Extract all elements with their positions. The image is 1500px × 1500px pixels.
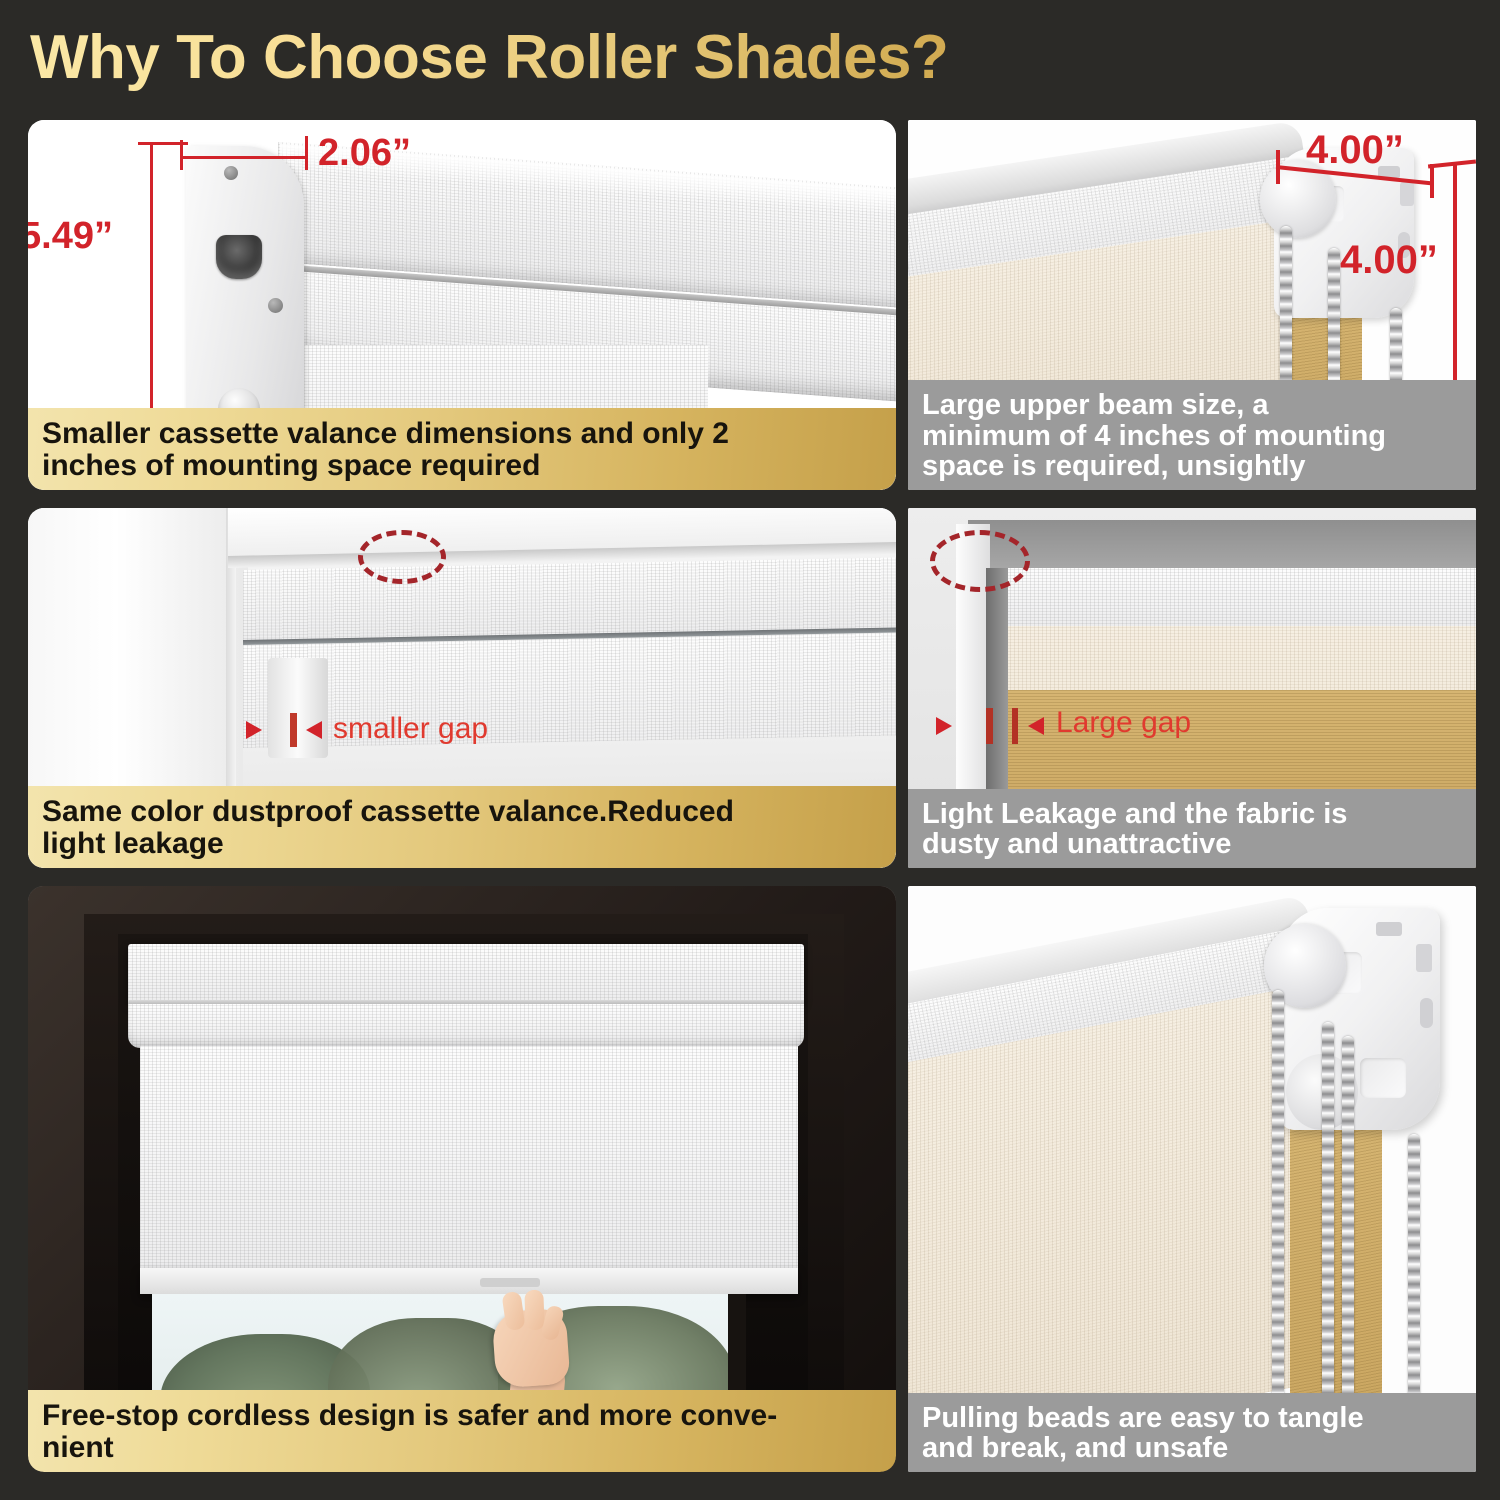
caption-line: Smaller cassette valance dimensions and … (42, 418, 882, 450)
shade-fabric (140, 1046, 798, 1278)
panel-caption: Free-stop cordless design is safer and m… (28, 1390, 896, 1472)
beam-height-tick-top (1428, 160, 1476, 169)
panel-cordless-window: Free-stop cordless design is safer and m… (28, 886, 896, 1472)
bottom-rail (268, 658, 328, 758)
valance-bullnose (128, 1004, 804, 1048)
panel-caption: Large upper beam size, a minimum of 4 in… (908, 380, 1476, 490)
beam-width-label: 4.00” (1306, 128, 1404, 173)
infographic-page: Why To Choose Roller Shades? 2 (0, 0, 1500, 1500)
caption-line: space is required, unsightly (922, 451, 1462, 482)
hand-finger-middle (524, 1290, 544, 1331)
window-room-photo (28, 886, 896, 1472)
bracket-slot-corner (1400, 182, 1414, 206)
panel-pulling-beads: Pulling beads are easy to tangle and bre… (908, 886, 1476, 1472)
width-dim-line (180, 156, 308, 159)
width-dim-tick-right (305, 136, 308, 170)
bracket-logo-lower (1360, 1058, 1406, 1098)
bracket-slot-corner (1416, 944, 1432, 972)
gap-marker-bar-2 (1012, 708, 1018, 744)
beam-width-tick-left (1276, 150, 1280, 184)
page-title: Why To Choose Roller Shades? (30, 22, 1230, 100)
bead-chain-photo (908, 886, 1476, 1472)
panel-caption: Smaller cassette valance dimensions and … (28, 408, 896, 490)
smaller-gap-label: smaller gap (333, 712, 488, 746)
bracket-slot-mid (1420, 998, 1433, 1028)
gap-arrow-left (246, 721, 262, 739)
upper-beam-shadow (968, 520, 1476, 574)
panel-large-beam: 4.00” 4.00” Large upper beam size, a min… (908, 120, 1476, 490)
bracket-screw-lower (268, 298, 283, 313)
panel-caption: Light Leakage and the fabric is dusty an… (908, 789, 1476, 868)
gap-arrow-right (306, 721, 322, 739)
caption-line: Pulling beads are easy to tangle (922, 1403, 1462, 1434)
gap-highlight-ring (358, 530, 446, 584)
height-dim-label: 5.49” (28, 215, 113, 258)
caption-line: Large upper beam size, a (922, 390, 1462, 421)
gap-arrow-right (1028, 717, 1044, 735)
bracket-slot-top (1376, 922, 1402, 936)
bracket-control-slot (216, 235, 262, 279)
panel-smaller-gap: smaller gap Same color dustproof cassett… (28, 508, 896, 868)
caption-line: nient (42, 1432, 882, 1464)
panel-caption: Pulling beads are easy to tangle and bre… (908, 1393, 1476, 1472)
caption-line: light leakage (42, 828, 882, 860)
gap-marker-bar (290, 713, 297, 747)
caption-line: Same color dustproof cassette valance.Re… (42, 796, 882, 828)
cassette-valance (128, 944, 804, 1004)
large-gap-label: Large gap (1056, 706, 1191, 740)
height-dim-line (150, 142, 153, 438)
beam-height-label: 4.00” (1340, 238, 1438, 283)
gap-marker-bar-1 (986, 708, 993, 744)
beam-width-tick-right (1430, 164, 1434, 198)
width-dim-label: 2.06” (318, 132, 411, 175)
height-dim-tick-top (138, 142, 188, 145)
panel-caption: Same color dustproof cassette valance.Re… (28, 786, 896, 868)
bottom-rail-grip (480, 1278, 540, 1287)
caption-line: Light Leakage and the fabric is (922, 799, 1462, 830)
caption-line: Free-stop cordless design is safer and m… (42, 1400, 882, 1432)
caption-line: minimum of 4 inches of mounting (922, 421, 1462, 452)
gap-arrow-left (936, 717, 952, 735)
gap-highlight-ring (930, 530, 1030, 592)
panel-cassette-dimensions: 2.06” 5.49” Smaller cassette valance dim… (28, 120, 896, 490)
panel-large-gap: Large gap Light Leakage and the fabric i… (908, 508, 1476, 868)
caption-line: dusty and unattractive (922, 829, 1462, 860)
caption-line: inches of mounting space required (42, 450, 882, 482)
white-fabric-band (990, 568, 1476, 630)
bracket-screw-upper (224, 166, 238, 180)
bottom-rail (140, 1268, 798, 1294)
caption-line: and break, and unsafe (922, 1433, 1462, 1464)
